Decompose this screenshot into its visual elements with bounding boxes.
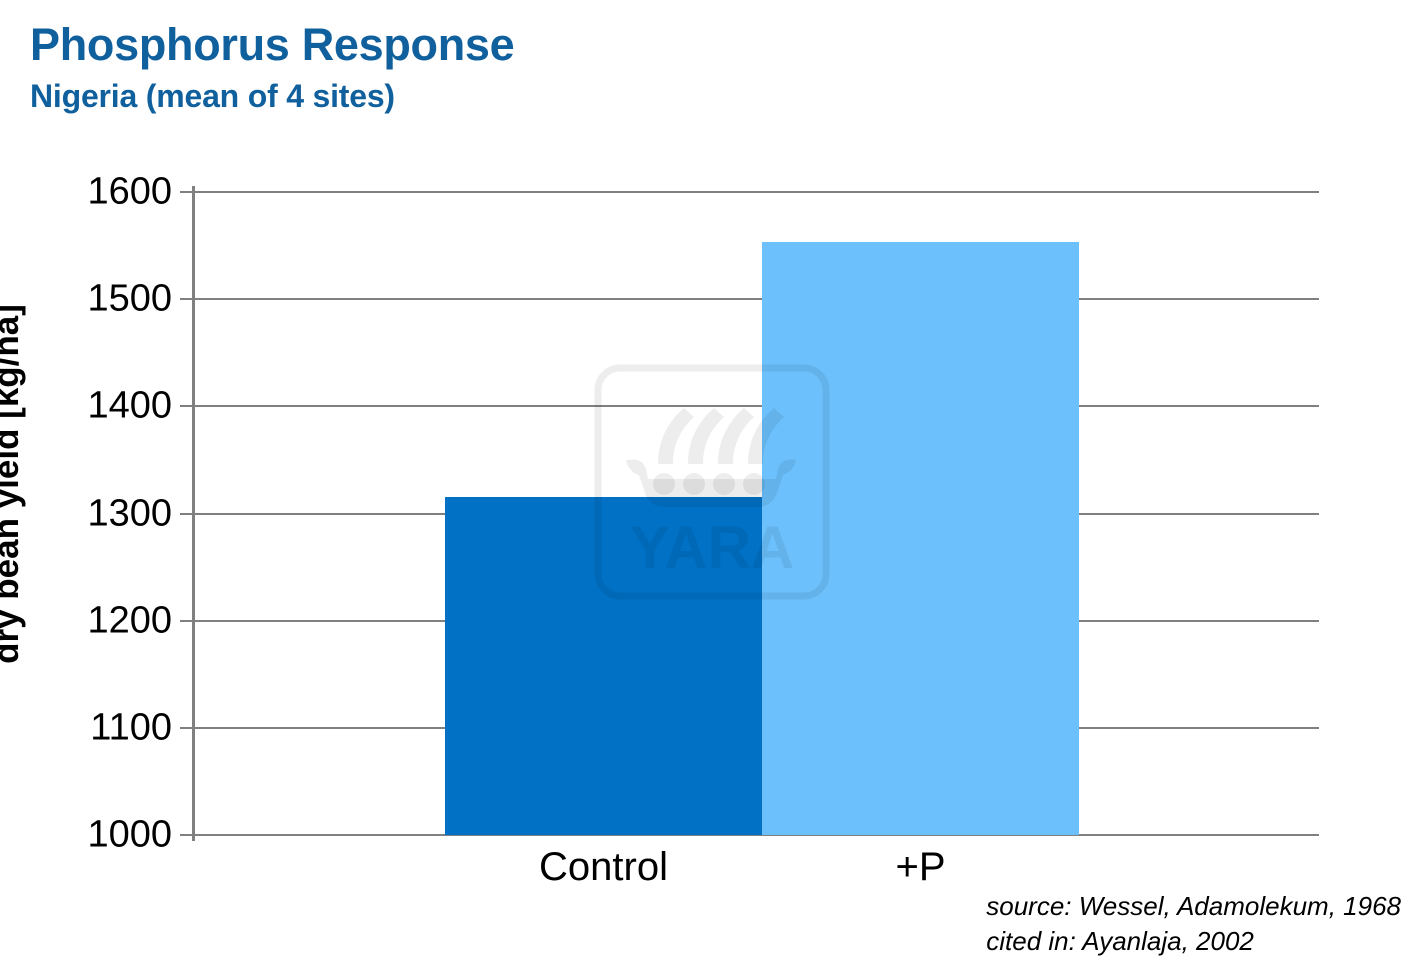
y-axis-tick-labels: 1600150014001300120011001000 bbox=[0, 0, 172, 968]
y-tick-label-1000: 1000 bbox=[87, 814, 172, 857]
y-tick-label-1400: 1400 bbox=[87, 385, 172, 428]
source-line-1: source: Wessel, Adamolekum, 1968 bbox=[986, 889, 1401, 923]
gridline-1400 bbox=[192, 405, 1319, 407]
x-tick-label-control: Control bbox=[445, 845, 762, 890]
bar-control[interactable] bbox=[445, 497, 762, 835]
source-line-2: cited in: Ayanlaja, 2002 bbox=[986, 924, 1401, 958]
bar-plus-p[interactable] bbox=[762, 242, 1079, 835]
x-tick-label-p: +P bbox=[762, 845, 1079, 890]
y-tick-label-1100: 1100 bbox=[90, 706, 172, 749]
gridline-1600 bbox=[192, 191, 1319, 193]
gridline-1500 bbox=[192, 298, 1319, 300]
y-tick-label-1200: 1200 bbox=[87, 599, 172, 642]
y-tick-label-1300: 1300 bbox=[87, 492, 172, 535]
source-note: source: Wessel, Adamolekum, 1968 cited i… bbox=[986, 889, 1401, 958]
y-tick-label-1600: 1600 bbox=[87, 171, 172, 214]
plot-area bbox=[192, 192, 1319, 835]
y-tick-label-1500: 1500 bbox=[87, 278, 172, 321]
